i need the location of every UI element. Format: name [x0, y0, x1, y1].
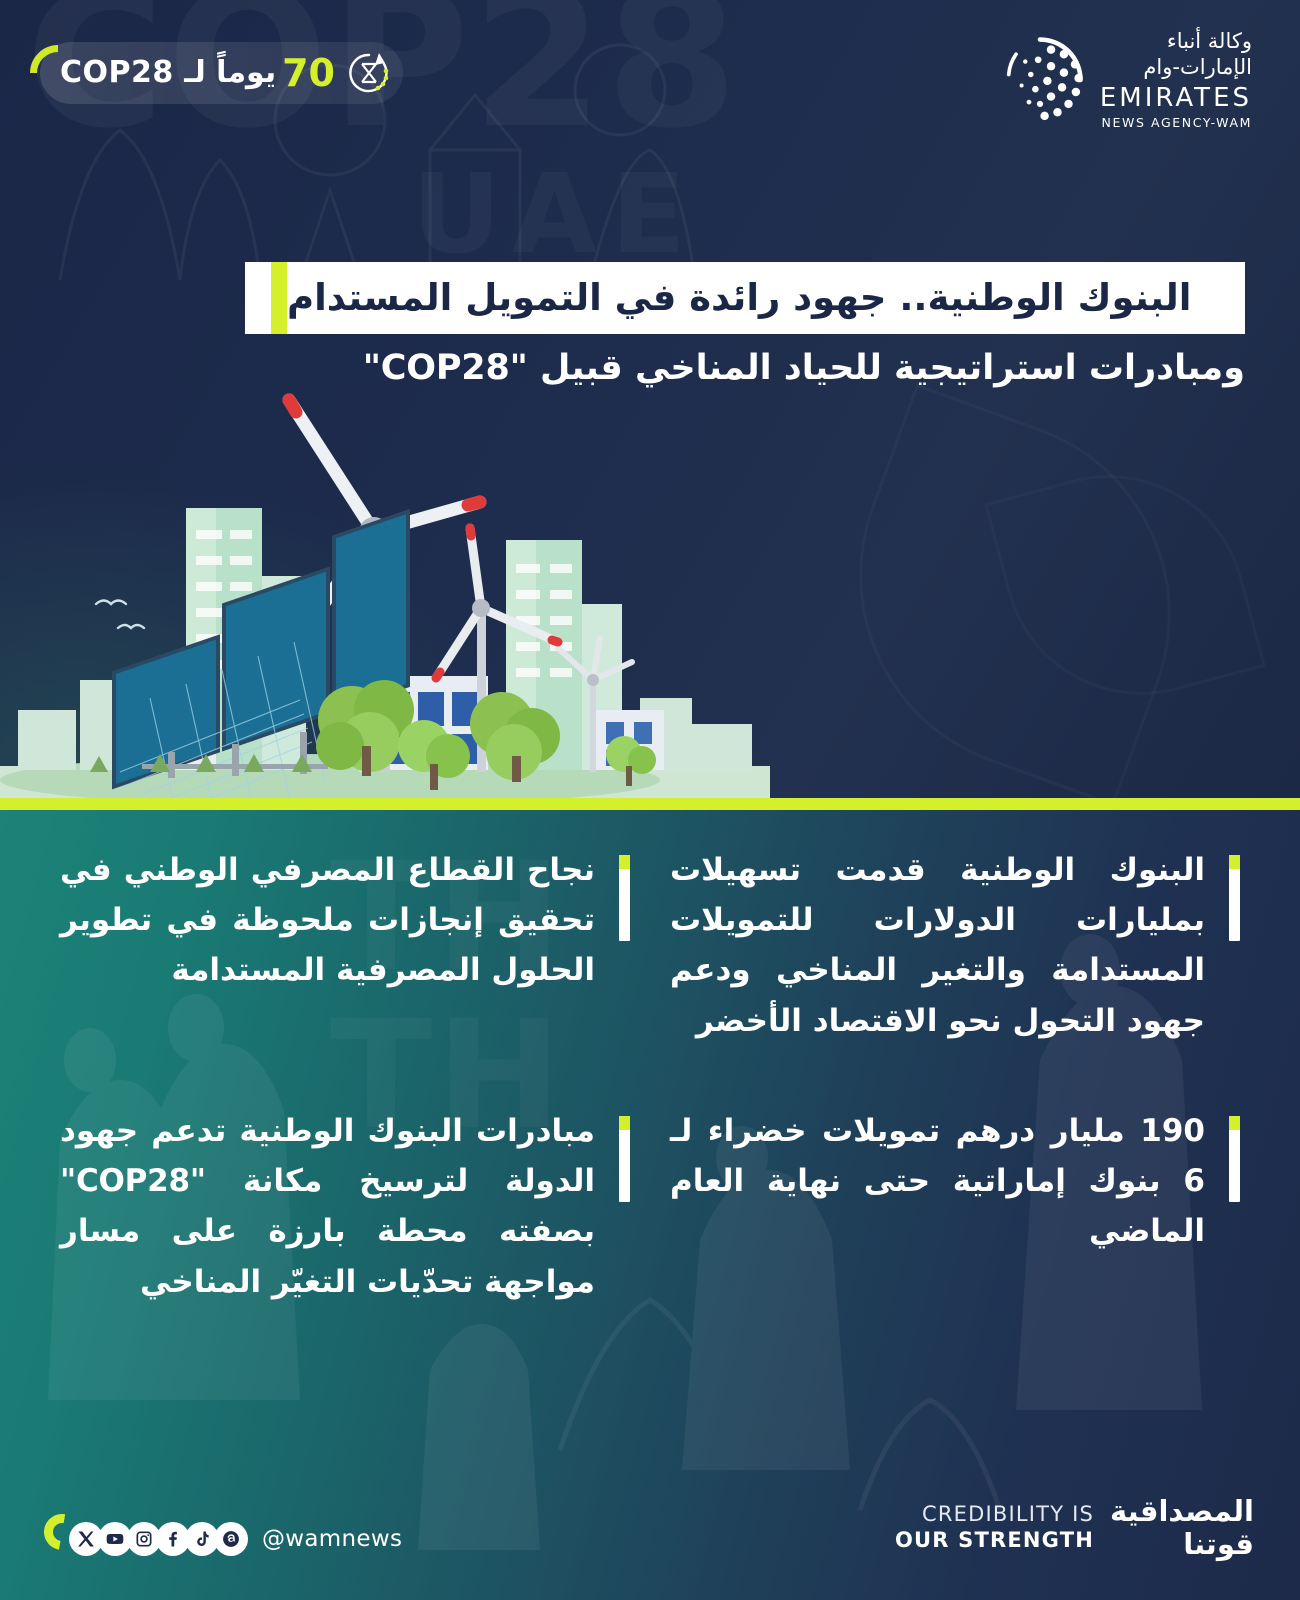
logo-arabic-line1: وكالة أنباء	[1100, 28, 1252, 54]
dotted-globe-icon	[994, 34, 1086, 126]
logo-english-line2: NEWS AGENCY-WAM	[1100, 115, 1252, 131]
info-card: مبادرات البنوك الوطنية تدعم جهود الدولة …	[60, 1106, 630, 1307]
logo-text-block: وكالة أنباء الإمارات-وام EMIRATES NEWS A…	[1100, 28, 1252, 132]
tagline-ar-line1: المصداقية	[1110, 1495, 1254, 1527]
tagline-english: CREDIBILITY IS OUR STRENGTH	[895, 1502, 1094, 1552]
footer-social-bar: @wamnews	[44, 1514, 402, 1564]
infographic-poster: COP28 UAE	[0, 0, 1300, 1600]
cards-grid: البنوك الوطنية قدمت تسهيلات بمليارات الد…	[0, 810, 1300, 1307]
countdown-label: يوماً لـ COP28	[60, 58, 276, 88]
section-divider	[0, 798, 1300, 810]
card-text: مبادرات البنوك الوطنية تدعم جهود الدولة …	[60, 1106, 595, 1307]
card-marker	[619, 1116, 630, 1202]
footer-tagline: المصداقية قوتنا CREDIBILITY IS OUR STREN…	[895, 1495, 1254, 1560]
tagline-en-line2: OUR STRENGTH	[895, 1528, 1094, 1553]
headline-line1: البنوك الوطنية.. جهود رائدة في التمويل ا…	[287, 262, 1214, 334]
green-energy-city-illustration	[0, 380, 770, 800]
bottom-section: THTH البنوك الوطنية قدمت تسهيلات	[0, 810, 1300, 1600]
countdown-badge[interactable]: 70 يوماً لـ COP28	[40, 42, 403, 104]
headline-accent-bar	[271, 262, 287, 334]
tagline-en-line1: CREDIBILITY IS	[895, 1502, 1094, 1527]
tagline-arabic: المصداقية قوتنا	[1110, 1495, 1254, 1560]
tagline-ar-line2: قوتنا	[1110, 1528, 1254, 1560]
card-text: 190 مليار درهم تمويلات خضراء لـ 6 بنوك إ…	[670, 1106, 1205, 1257]
headline-banner: البنوك الوطنية.. جهود رائدة في التمويل ا…	[245, 262, 1245, 334]
card-text: البنوك الوطنية قدمت تسهيلات بمليارات الد…	[670, 845, 1205, 1046]
logo-english-line1: EMIRATES	[1100, 82, 1252, 116]
wam-logo[interactable]: وكالة أنباء الإمارات-وام EMIRATES NEWS A…	[994, 28, 1252, 132]
card-marker	[619, 855, 630, 941]
logo-arabic-line2: الإمارات-وام	[1100, 54, 1252, 80]
threads-icon[interactable]	[214, 1522, 248, 1556]
headline-block: البنوك الوطنية.. جهود رائدة في التمويل ا…	[245, 262, 1245, 388]
info-card: 190 مليار درهم تمويلات خضراء لـ 6 بنوك إ…	[670, 1106, 1240, 1307]
top-section: COP28 UAE	[0, 0, 1300, 800]
info-card: نجاح القطاع المصرفي الوطني في تحقيق إنجا…	[60, 845, 630, 1046]
countdown-number: 70	[282, 54, 335, 92]
hourglass-icon	[345, 49, 393, 97]
card-marker	[1229, 855, 1240, 941]
social-handle[interactable]: @wamnews	[262, 1526, 402, 1552]
card-text: نجاح القطاع المصرفي الوطني في تحقيق إنجا…	[60, 845, 595, 996]
info-card: البنوك الوطنية قدمت تسهيلات بمليارات الد…	[670, 845, 1240, 1046]
card-marker	[1229, 1116, 1240, 1202]
